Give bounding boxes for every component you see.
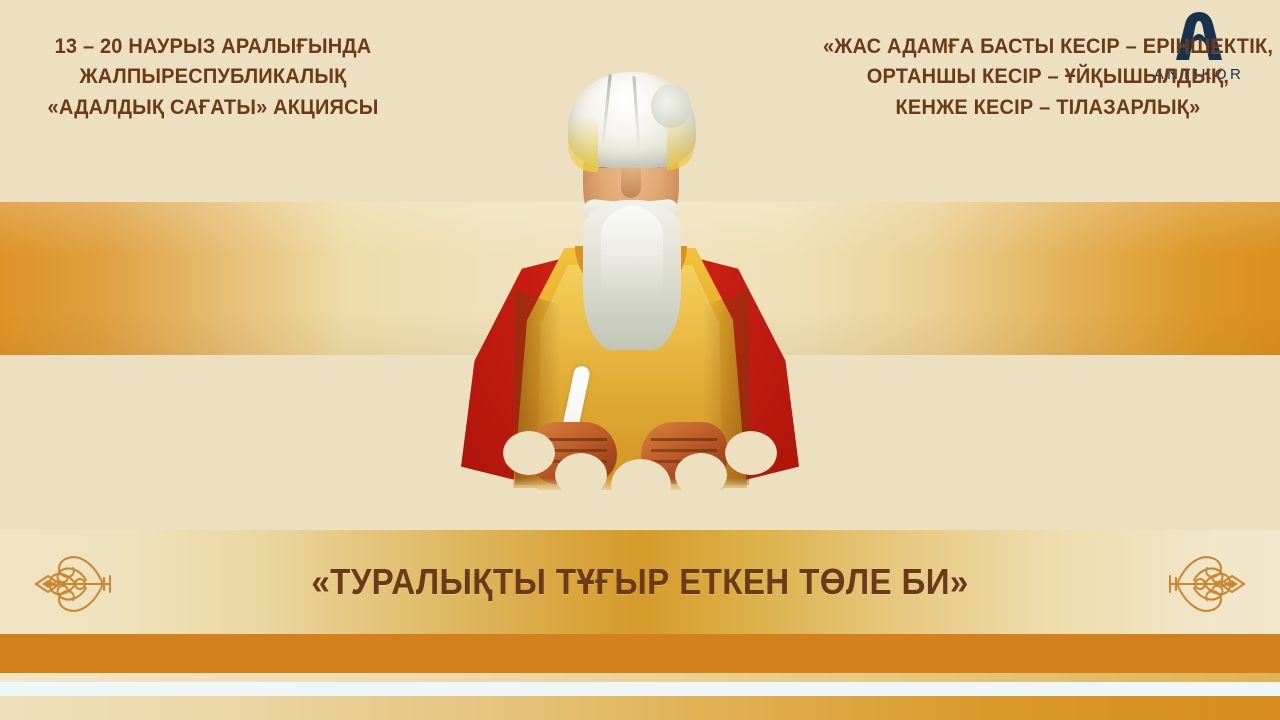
left-announcement-text: 13 – 20 НАУРЫЗ АРАЛЫҒЫНДА ЖАЛПЫРЕСПУБЛИК… xyxy=(20,0,405,153)
beard xyxy=(583,200,681,350)
right-quote-text: «ЖАС АДАМҒА БАСТЫ КЕСІР – ЕРІНШЕКТІК, ОР… xyxy=(834,0,1262,153)
footer-white-strip xyxy=(0,682,1280,696)
footer-orange-bar xyxy=(0,634,1280,673)
left-line-1: 13 – 20 НАУРЫЗ АРАЛЫҒЫНДА xyxy=(55,31,372,62)
left-line-2: ЖАЛПЫРЕСПУБЛИКАЛЫҚ xyxy=(80,61,347,92)
poster-title: «ТУРАЛЫҚТЫ ТҰҒЫР ЕТКЕН ТӨЛЕ БИ» xyxy=(51,530,1229,634)
hand-left xyxy=(531,422,617,484)
poster-canvas: ANTIKOR 13 – 20 НАУРЫЗ АРАЛЫҒЫНДА ЖАЛПЫР… xyxy=(0,0,1280,720)
portrait-fade-base xyxy=(455,478,805,500)
footer-cream-strip xyxy=(0,673,1280,682)
footer-gold-strip xyxy=(0,696,1280,720)
right-line-3: КЕНЖЕ КЕСІР – ТІЛАЗАРЛЫҚ» xyxy=(896,92,1201,123)
right-line-2: ОРТАНШЫ КЕСІР – ҰЙҚЫШЫЛДЫҚ, xyxy=(867,61,1229,92)
tole-bi-portrait xyxy=(455,60,805,500)
right-line-1: «ЖАС АДАМҒА БАСТЫ КЕСІР – ЕРІНШЕКТІК, xyxy=(823,31,1273,62)
turban-gold-left xyxy=(568,116,598,172)
hand-right xyxy=(641,422,727,484)
bottom-title-band: «ТУРАЛЫҚТЫ ТҰҒЫР ЕТКЕН ТӨЛЕ БИ» xyxy=(0,530,1280,634)
left-line-3: «АДАЛДЫҚ САҒАТЫ» АКЦИЯСЫ xyxy=(48,92,379,123)
portrait-artwork xyxy=(455,60,805,500)
kazakh-ornament-icon xyxy=(1154,546,1266,622)
turban-gold-right xyxy=(667,116,695,170)
nose xyxy=(621,164,641,198)
